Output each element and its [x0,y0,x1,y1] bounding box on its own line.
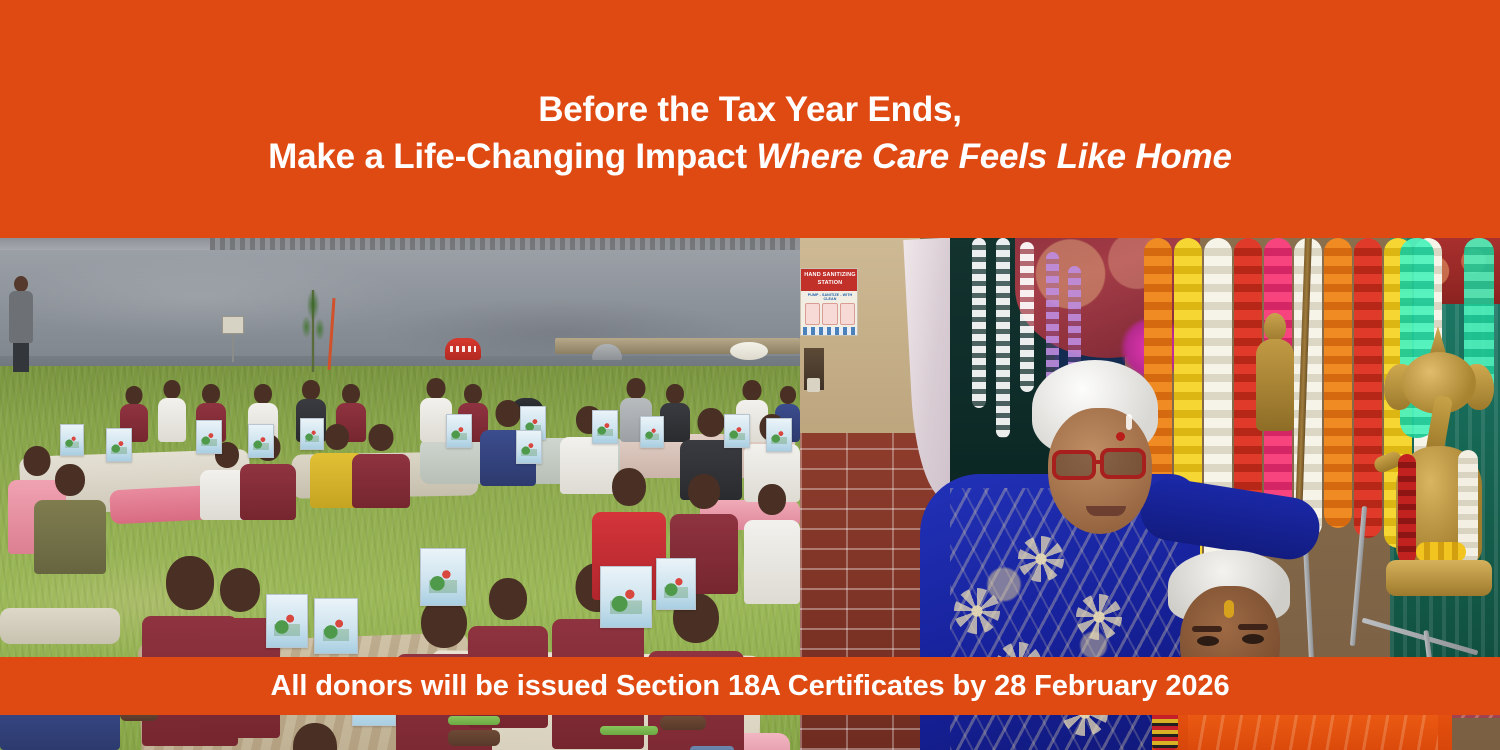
gift-box [300,418,324,450]
white-sun-hat [730,342,768,360]
brass-deity-statue [1252,313,1298,431]
green-plate [600,726,658,735]
child-head [342,384,360,404]
gift-box [640,416,664,448]
small-tree [300,290,326,372]
hand-dry-icon [840,303,855,325]
child-head [612,468,646,506]
child-head [688,474,720,509]
caregiver-legs [13,342,29,372]
footer-note-text: All donors will be issued Section 18A Ce… [271,670,1230,703]
embroidered-flower [954,588,1000,634]
gift-box [516,430,542,464]
embroidered-flower [1018,536,1064,582]
gift-box [196,420,222,454]
seated-teen [34,464,106,574]
child-head [293,723,337,750]
sign-instruction: PUMP - SANITIZE - WITH CLEAN [803,293,857,301]
child-torso [744,520,800,604]
gift-box [446,414,472,448]
gift-box [592,410,618,444]
embroidered-flower [1076,594,1122,640]
sign-subtitle-text: STATION [818,280,843,286]
statue-pedestal [1386,560,1492,596]
child-head [325,424,349,450]
foreground-child [744,484,800,604]
gift-box [266,594,308,648]
yellow-garland [1416,542,1466,562]
seated-child [158,380,186,442]
forehead-tilak [1126,414,1132,430]
child-head [55,464,85,496]
gift-box [60,424,84,456]
child-head [698,408,725,437]
bindi [1224,600,1234,618]
sanitizer-dispenser [804,348,824,390]
child-head [743,380,762,401]
gift-box [656,558,696,610]
bare-legs [660,716,706,730]
hand-sanitizing-station-sign: HAND SANITIZINGSTATION PUMP - SANITIZE -… [800,268,858,336]
ganesha-statue [1376,326,1500,626]
headline-line-2-italic: Where Care Feels Like Home [757,137,1232,176]
foreground-toddler [272,723,358,750]
child-head [489,578,527,620]
hand-wash-icon [805,303,820,325]
child-head [666,384,684,404]
flower-garland [1324,238,1352,528]
denim-shorts [690,746,734,750]
headline-block: Before the Tax Year Ends, Make a Life-Ch… [0,0,1500,238]
child-head [220,568,260,612]
child-head [302,380,320,400]
eye-left [1197,636,1219,646]
child-torso [240,464,296,520]
orchid-strand [996,238,1010,438]
orchid-strand [1020,242,1034,392]
gift-box [314,598,358,654]
sign-title: HAND SANITIZINGSTATION [803,271,857,288]
sign-title-text: HAND SANITIZING [804,272,856,278]
eyebrow-left [1192,626,1222,632]
eyeglasses-bridge [1094,460,1104,464]
picnic-mat [0,608,120,644]
deity-body [1256,339,1294,431]
smile [1086,506,1126,516]
child-head [164,380,181,399]
wall-utility-box [222,316,244,334]
child-head [254,384,272,404]
seated-child [352,424,410,508]
child-head [758,484,786,515]
gift-box [420,548,466,606]
eyebrow-right [1238,624,1268,630]
deity-head [1264,313,1286,341]
sign-footer-strip [803,327,857,335]
child-head [627,378,646,399]
red-cap [445,338,481,360]
bindi [1116,432,1125,441]
gift-box [724,414,750,448]
donation-appeal-banner: Before the Tax Year Ends, Make a Life-Ch… [0,0,1500,750]
gift-box [600,566,652,628]
headline-line-2-regular: Make a Life-Changing Impact [268,137,756,176]
gift-box [248,424,274,458]
eye-right [1242,634,1264,644]
hand-rub-icon [822,303,837,325]
footer-note-banner: All donors will be issued Section 18A Ce… [0,657,1500,715]
child-head [427,378,446,399]
child-head [496,400,521,427]
gift-box [766,418,792,452]
child-head [126,386,143,405]
headline-line-2: Make a Life-Changing Impact Where Care F… [268,134,1232,181]
child-torso [158,398,186,442]
sign-pictograms [805,303,855,325]
standing-caregiver [6,276,36,372]
red-eyeglasses-lens-right [1100,448,1146,479]
headline-line-1: Before the Tax Year Ends, [538,87,962,134]
green-plate [448,716,500,725]
orchid-strand [972,238,986,408]
child-head [369,424,394,451]
red-garland [1398,454,1416,564]
child-head [202,384,220,404]
child-torso [352,454,410,508]
child-head [780,386,796,404]
bare-legs [448,730,500,746]
red-eyeglasses-lens-left [1052,450,1096,480]
child-torso [34,500,106,574]
gift-box [106,428,132,462]
utility-conduit [232,334,234,362]
